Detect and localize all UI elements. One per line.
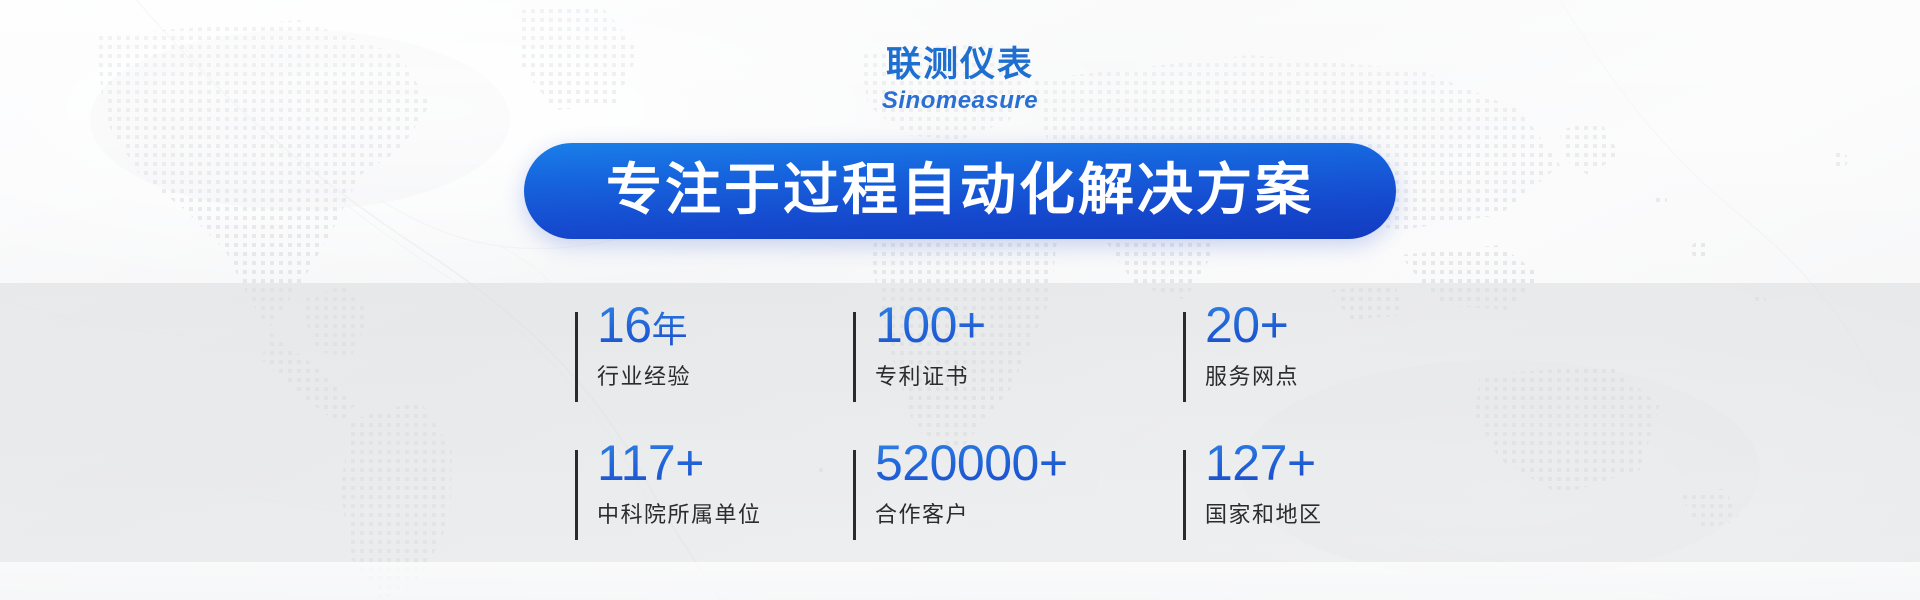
stats-grid: 16年 行业经验 100+ 专利证书 20+ 服务网点 117+ — [575, 300, 1345, 576]
stat-item: 100+ 专利证书 — [853, 300, 1183, 438]
banner-content: 联测仪表 Sinomeasure 专注于过程自动化解决方案 16年 行业经验 1… — [0, 0, 1920, 600]
headline-pill: 专注于过程自动化解决方案 — [524, 143, 1396, 239]
stat-item: 20+ 服务网点 — [1183, 300, 1345, 438]
stat-item: 520000+ 合作客户 — [853, 438, 1183, 576]
stat-item: 127+ 国家和地区 — [1183, 438, 1345, 576]
brand-logo: 联测仪表 Sinomeasure — [0, 48, 1920, 113]
brand-name-en: Sinomeasure — [0, 89, 1920, 113]
stat-value: 127+ — [1205, 438, 1345, 489]
stat-label: 合作客户 — [875, 497, 1183, 529]
stat-suffix: 年 — [652, 310, 688, 351]
stat-suffix: + — [1260, 297, 1289, 353]
stat-number: 16 — [597, 297, 652, 353]
stat-label: 国家和地区 — [1205, 497, 1345, 529]
stat-value: 100+ — [875, 300, 1183, 351]
stat-suffix: + — [675, 435, 704, 491]
stat-value: 520000+ — [875, 438, 1183, 489]
headline-text: 专注于过程自动化解决方案 — [606, 163, 1314, 219]
stat-value: 117+ — [597, 438, 853, 489]
stat-suffix: + — [957, 297, 986, 353]
stat-number: 20 — [1205, 297, 1260, 353]
brand-name-cn: 联测仪表 — [0, 48, 1920, 83]
stat-number: 117 — [597, 435, 675, 491]
stat-label: 服务网点 — [1205, 359, 1345, 391]
stat-item: 117+ 中科院所属单位 — [575, 438, 853, 576]
stat-item: 16年 行业经验 — [575, 300, 853, 438]
stat-value: 16年 — [597, 300, 853, 351]
stat-number: 100 — [875, 297, 957, 353]
stat-value: 20+ — [1205, 300, 1345, 351]
stat-number: 127 — [1205, 435, 1287, 491]
stat-suffix: + — [1287, 435, 1316, 491]
promo-banner: 联测仪表 Sinomeasure 专注于过程自动化解决方案 16年 行业经验 1… — [0, 0, 1920, 600]
stat-label: 专利证书 — [875, 359, 1183, 391]
stat-label: 中科院所属单位 — [597, 497, 853, 529]
stat-label: 行业经验 — [597, 359, 853, 391]
stat-number: 520000 — [875, 435, 1039, 491]
stat-suffix: + — [1039, 435, 1068, 491]
